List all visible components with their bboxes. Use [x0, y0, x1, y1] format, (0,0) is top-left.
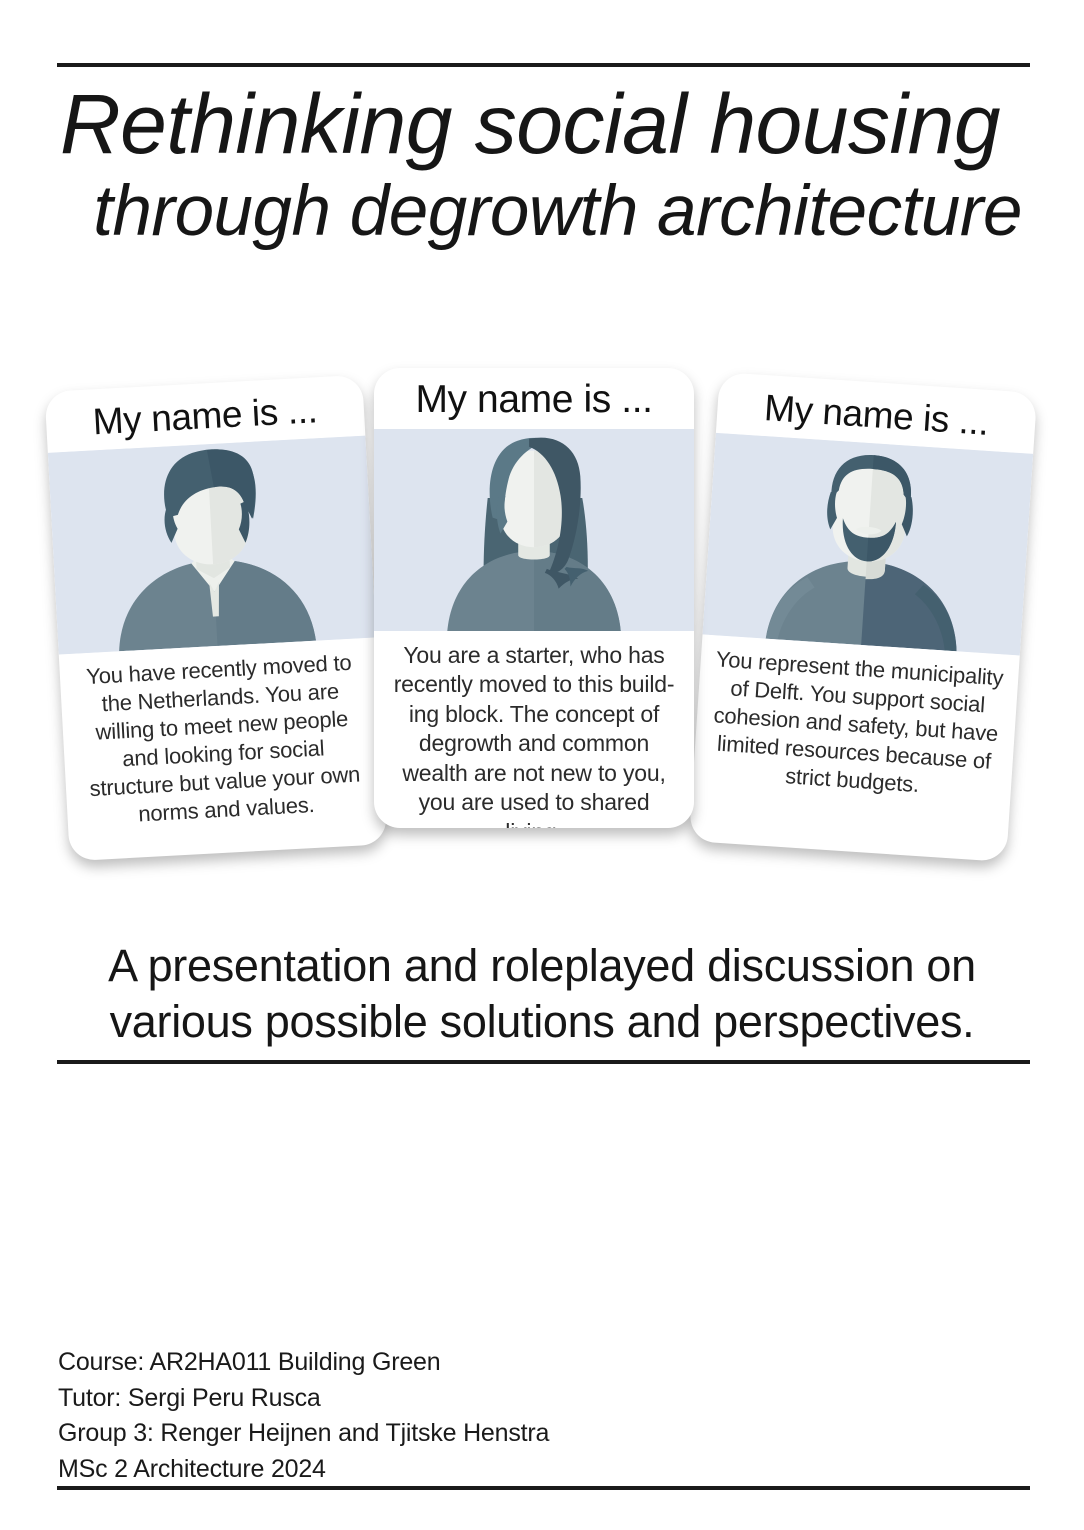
persona-card-3[interactable]: My name is ... — [689, 372, 1037, 862]
footer-credits: Course: AR2HA011 Building Green Tutor: S… — [58, 1345, 758, 1487]
top-rule — [57, 63, 1030, 67]
persona-card-row: My name is ... — [0, 360, 1084, 880]
footer-tutor: Tutor: Sergi Peru Rusca — [58, 1381, 758, 1417]
footer-group: Group 3: Renger Heijnen and Tjitske Hens… — [58, 1416, 758, 1452]
persona-card-2[interactable]: My name is ... — [374, 368, 694, 828]
title-line-1: Rethinking social housing — [60, 82, 1026, 166]
avatar-man-beard-icon — [703, 433, 1034, 656]
card-photo — [703, 433, 1034, 656]
card-description: You represent the municipality of Delft.… — [692, 634, 1020, 816]
persona-card-1[interactable]: My name is ... — [45, 375, 388, 862]
avatar-man-wavy-hair-icon — [48, 436, 376, 655]
subtitle-line-2: various possible solutions and perspecti… — [58, 994, 1026, 1050]
poster-page: Rethinking social housing through degrow… — [0, 0, 1084, 1530]
card-description: You have recently moved to the Netherlan… — [59, 637, 387, 844]
card-photo — [374, 429, 694, 631]
middle-rule — [57, 1060, 1030, 1064]
footer-course: Course: AR2HA011 Building Green — [58, 1345, 758, 1381]
avatar-woman-long-hair-icon — [374, 429, 694, 631]
subtitle-block: A presentation and roleplayed discussion… — [0, 938, 1084, 1050]
footer-programme: MSc 2 Architecture 2024 — [58, 1452, 758, 1488]
subtitle-line-1: A presentation and roleplayed discussion… — [58, 938, 1026, 994]
card-description: You are a starter, who has recently move… — [374, 631, 694, 828]
bottom-rule — [57, 1486, 1030, 1490]
card-photo — [48, 436, 376, 655]
title-line-2: through degrowth architecture — [58, 176, 1022, 247]
card-heading: My name is ... — [374, 368, 694, 429]
page-title: Rethinking social housing through degrow… — [0, 82, 1084, 247]
